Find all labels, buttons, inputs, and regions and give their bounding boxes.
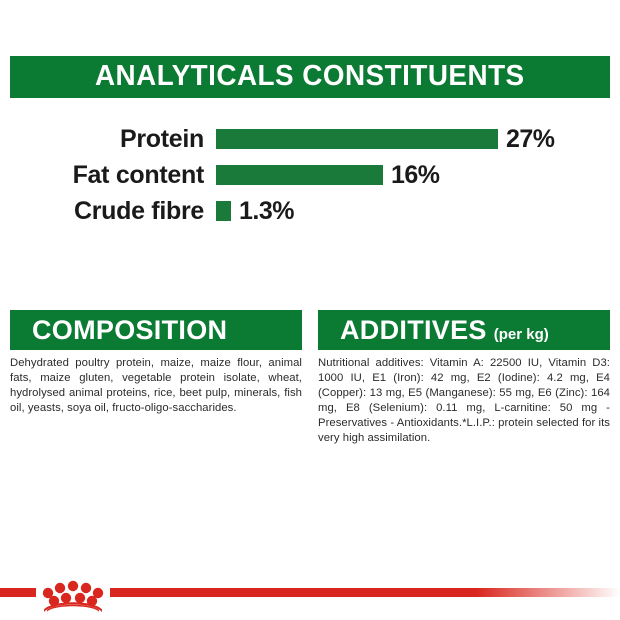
chart-row: Fat content 16% (10, 158, 610, 192)
chart-bar-protein (216, 129, 498, 149)
composition-body: Dehydrated poultry protein, maize, maize… (10, 350, 302, 416)
chart-bar-crude-fibre (216, 201, 231, 221)
chart-row: Protein 27% (10, 122, 610, 156)
analyticals-header: ANALYTICALS CONSTITUENTS (10, 56, 610, 98)
chart-row: Crude fibre 1.3% (10, 194, 610, 228)
chart-bar-wrap-fat-content: 16% (216, 161, 610, 190)
additives-body: Nutritional additives: Vitamin A: 22500 … (318, 350, 610, 446)
chart-value-protein: 27% (506, 125, 555, 154)
additives-panel: ADDITIVES (per kg) Nutritional additives… (318, 310, 610, 446)
additives-title: ADDITIVES (340, 315, 487, 346)
chart-label-protein: Protein (10, 125, 216, 154)
chart-value-fat-content: 16% (391, 161, 440, 190)
royal-canin-crown-icon (42, 566, 104, 612)
chart-bar-wrap-protein: 27% (216, 125, 610, 154)
chart-value-crude-fibre: 1.3% (239, 197, 294, 226)
chart-label-crude-fibre: Crude fibre (10, 197, 216, 226)
additives-subtitle: (per kg) (494, 326, 549, 343)
analyticals-title: ANALYTICALS CONSTITUENTS (95, 60, 525, 93)
analyticals-constituents-panel: ANALYTICALS CONSTITUENTS Protein 27% Fat… (10, 56, 610, 98)
composition-header: COMPOSITION (10, 310, 302, 350)
composition-panel: COMPOSITION Dehydrated poultry protein, … (10, 310, 302, 416)
footer-rule-right (110, 588, 620, 597)
additives-header: ADDITIVES (per kg) (318, 310, 610, 350)
chart-label-fat-content: Fat content (10, 161, 216, 190)
nutrition-bar-chart: Protein 27% Fat content 16% Crude fibre … (10, 122, 610, 230)
chart-bar-wrap-crude-fibre: 1.3% (216, 197, 610, 226)
chart-bar-fat-content (216, 165, 383, 185)
composition-title: COMPOSITION (32, 315, 227, 346)
footer-brand-bar (0, 578, 620, 620)
footer-rule-left (0, 588, 36, 597)
